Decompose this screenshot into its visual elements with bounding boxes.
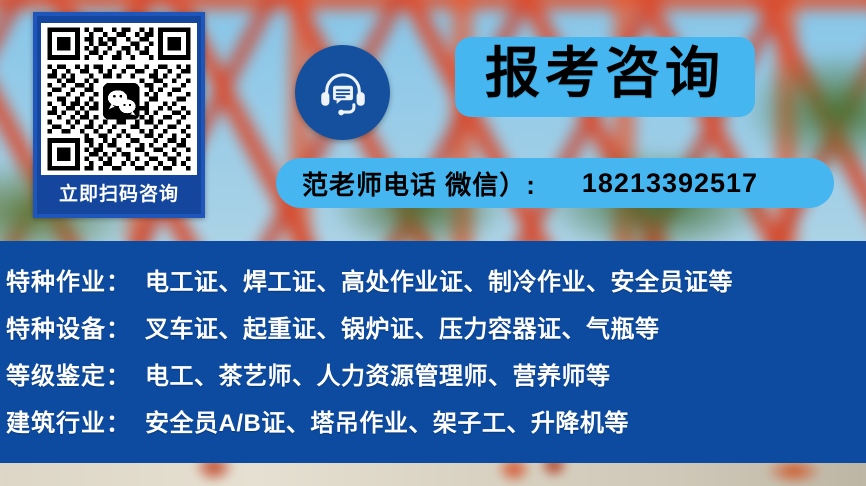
bottom-photo-strip-image xyxy=(0,463,866,486)
page-title: 报考咨询 xyxy=(455,37,755,117)
category-label-special-equipment: 特种设备： xyxy=(6,306,131,353)
bottom-photo-strip xyxy=(0,463,866,486)
category-value-construction-industry: 安全员A/B证、塔吊作业、架子工、升降机等 xyxy=(145,400,629,447)
list-item: 等级鉴定： 电工、茶艺师、人力资源管理师、营养师等 xyxy=(6,353,866,400)
category-list-panel: 特种作业： 电工证、焊工证、高处作业证、制冷作业、安全员证等 特种设备： 叉车证… xyxy=(0,241,866,463)
qr-code-card[interactable]: 立即扫码咨询 xyxy=(33,12,205,218)
category-value-grade-assessment: 电工、茶艺师、人力资源管理师、营养师等 xyxy=(145,353,611,400)
promo-banner: 立即扫码咨询 报考咨询 范老师电话 微信）: 18213392517 xyxy=(0,0,866,486)
headset-support-icon xyxy=(295,45,390,140)
contact-label: 范老师电话 微信）: xyxy=(302,165,536,202)
category-label-grade-assessment: 等级鉴定： xyxy=(6,353,131,400)
qr-code-image[interactable] xyxy=(41,23,197,175)
category-value-special-operations: 电工证、焊工证、高处作业证、制冷作业、安全员证等 xyxy=(145,259,733,306)
category-label-construction-industry: 建筑行业： xyxy=(6,400,131,447)
category-value-special-equipment: 叉车证、起重证、锅炉证、压力容器证、气瓶等 xyxy=(145,306,660,353)
category-label-special-operations: 特种作业： xyxy=(6,259,131,306)
list-item: 特种设备： 叉车证、起重证、锅炉证、压力容器证、气瓶等 xyxy=(6,306,866,353)
list-item: 建筑行业： 安全员A/B证、塔吊作业、架子工、升降机等 xyxy=(6,400,866,447)
list-item: 特种作业： 电工证、焊工证、高处作业证、制冷作业、安全员证等 xyxy=(6,259,866,306)
contact-phone-bar[interactable]: 范老师电话 微信）: 18213392517 xyxy=(276,158,834,208)
qr-caption: 立即扫码咨询 xyxy=(59,175,179,215)
contact-number[interactable]: 18213392517 xyxy=(582,168,758,199)
